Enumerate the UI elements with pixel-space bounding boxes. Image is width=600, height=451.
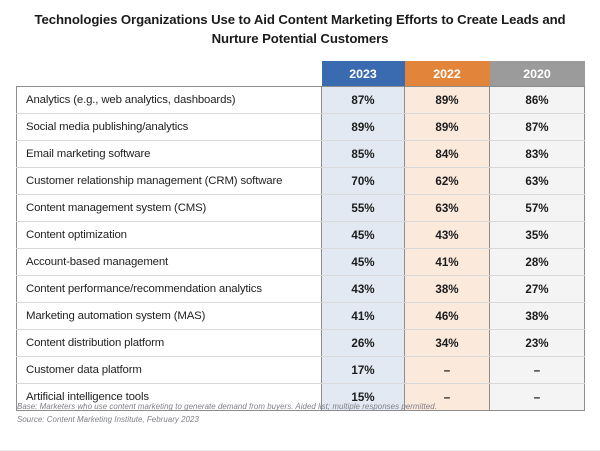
table-header: 2023 2022 2020 xyxy=(17,61,585,87)
column-header-2023: 2023 xyxy=(322,61,405,87)
cell-y2020: – xyxy=(490,357,585,384)
row-label: Content distribution platform xyxy=(17,330,322,357)
cell-y2022: 63% xyxy=(405,195,490,222)
cell-y2022: 34% xyxy=(405,330,490,357)
cell-y2022: 62% xyxy=(405,168,490,195)
footnote-base: Base: Marketers who use content marketin… xyxy=(17,401,583,414)
table-row: Email marketing software85%84%83% xyxy=(17,141,585,168)
row-label: Analytics (e.g., web analytics, dashboar… xyxy=(17,87,322,114)
cell-y2022: 89% xyxy=(405,87,490,114)
row-label: Account-based management xyxy=(17,249,322,276)
cell-y2022: – xyxy=(405,357,490,384)
table-row: Content optimization45%43%35% xyxy=(17,222,585,249)
data-table-container: 2023 2022 2020 Analytics (e.g., web anal… xyxy=(16,61,584,411)
cell-y2020: 28% xyxy=(490,249,585,276)
cell-y2020: 23% xyxy=(490,330,585,357)
cell-y2022: 89% xyxy=(405,114,490,141)
table-row: Content management system (CMS)55%63%57% xyxy=(17,195,585,222)
table-row: Analytics (e.g., web analytics, dashboar… xyxy=(17,87,585,114)
footnotes: Base: Marketers who use content marketin… xyxy=(17,401,583,427)
data-table: 2023 2022 2020 Analytics (e.g., web anal… xyxy=(16,61,585,411)
row-label: Email marketing software xyxy=(17,141,322,168)
table-row: Content distribution platform26%34%23% xyxy=(17,330,585,357)
cell-y2023: 43% xyxy=(322,276,405,303)
row-label: Marketing automation system (MAS) xyxy=(17,303,322,330)
cell-y2023: 89% xyxy=(322,114,405,141)
cell-y2022: 84% xyxy=(405,141,490,168)
table-row: Customer relationship management (CRM) s… xyxy=(17,168,585,195)
row-label: Social media publishing/analytics xyxy=(17,114,322,141)
table-row: Content performance/recommendation analy… xyxy=(17,276,585,303)
table-row: Social media publishing/analytics89%89%8… xyxy=(17,114,585,141)
table-row: Customer data platform17%–– xyxy=(17,357,585,384)
header-corner-cell xyxy=(17,61,322,87)
table-row: Marketing automation system (MAS)41%46%3… xyxy=(17,303,585,330)
table-page: Technologies Organizations Use to Aid Co… xyxy=(0,0,600,451)
cell-y2023: 85% xyxy=(322,141,405,168)
cell-y2023: 45% xyxy=(322,249,405,276)
cell-y2022: 46% xyxy=(405,303,490,330)
cell-y2023: 45% xyxy=(322,222,405,249)
column-header-2022: 2022 xyxy=(405,61,490,87)
cell-y2023: 70% xyxy=(322,168,405,195)
table-body: Analytics (e.g., web analytics, dashboar… xyxy=(17,87,585,411)
cell-y2022: 38% xyxy=(405,276,490,303)
cell-y2020: 86% xyxy=(490,87,585,114)
row-label: Content management system (CMS) xyxy=(17,195,322,222)
footnote-source: Source: Content Marketing Institute, Feb… xyxy=(17,414,583,427)
cell-y2022: 43% xyxy=(405,222,490,249)
table-header-row: 2023 2022 2020 xyxy=(17,61,585,87)
cell-y2023: 55% xyxy=(322,195,405,222)
cell-y2020: 83% xyxy=(490,141,585,168)
row-label: Customer data platform xyxy=(17,357,322,384)
cell-y2020: 63% xyxy=(490,168,585,195)
row-label: Content optimization xyxy=(17,222,322,249)
cell-y2023: 17% xyxy=(322,357,405,384)
row-label: Customer relationship management (CRM) s… xyxy=(17,168,322,195)
row-label: Content performance/recommendation analy… xyxy=(17,276,322,303)
cell-y2020: 57% xyxy=(490,195,585,222)
cell-y2022: 41% xyxy=(405,249,490,276)
cell-y2020: 27% xyxy=(490,276,585,303)
cell-y2020: 35% xyxy=(490,222,585,249)
cell-y2020: 38% xyxy=(490,303,585,330)
cell-y2023: 26% xyxy=(322,330,405,357)
cell-y2023: 41% xyxy=(322,303,405,330)
column-header-2020: 2020 xyxy=(490,61,585,87)
cell-y2020: 87% xyxy=(490,114,585,141)
page-title: Technologies Organizations Use to Aid Co… xyxy=(20,0,580,48)
cell-y2023: 87% xyxy=(322,87,405,114)
table-row: Account-based management45%41%28% xyxy=(17,249,585,276)
